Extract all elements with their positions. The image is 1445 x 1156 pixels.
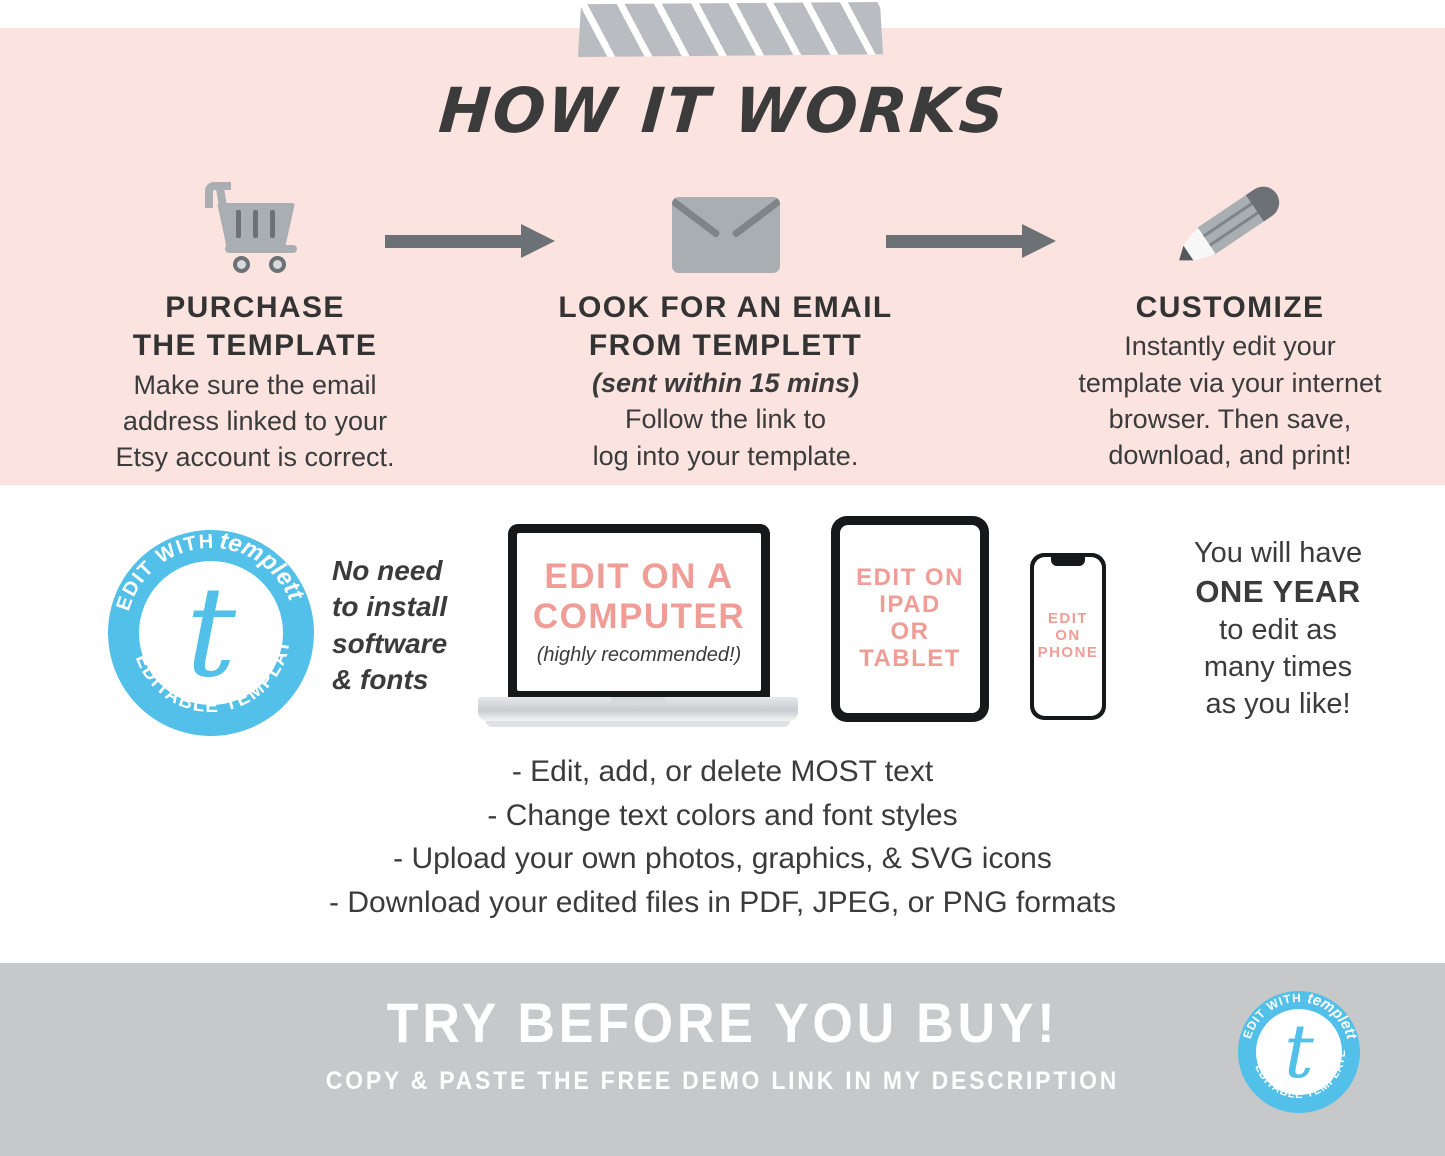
arrow-shaft	[886, 235, 1026, 248]
arrow-shaft	[385, 235, 525, 248]
footer-badge-center: t	[1256, 1009, 1342, 1095]
footer-subtitle: COPY & PASTE THE FREE DEMO LINK IN MY DE…	[58, 1067, 1387, 1096]
step-1-body-line-2: address linked to your	[90, 403, 420, 439]
step-2-body-line-2: log into your template.	[508, 438, 943, 474]
step-2-icon-slot	[508, 168, 943, 273]
page-title: HOW IT WORKS	[0, 74, 1445, 147]
step-1-body-line-3: Etsy account is correct.	[90, 439, 420, 475]
phone-screen-line-1: EDIT	[1038, 611, 1099, 628]
laptop-screen: EDIT ON A COMPUTER (highly recommended!)	[517, 533, 761, 691]
one-year-line-1: You will have	[1128, 535, 1428, 572]
phone-body: EDIT ON PHONE	[1030, 553, 1106, 720]
one-year-line-3: to edit as	[1128, 612, 1428, 649]
one-year-line-4: many times	[1128, 649, 1428, 686]
tablet-screen-line-4: TABLET	[856, 646, 964, 673]
laptop-mockup: EDIT ON A COMPUTER (highly recommended!)	[478, 524, 798, 730]
tablet-screen-line-2: IPAD	[856, 592, 964, 619]
step-3-body-line-3: browser. Then save,	[1040, 401, 1420, 437]
tablet-mockup: EDIT ON IPAD OR TABLET	[831, 516, 989, 722]
templett-badge-footer: EDIT WITH templett EDITABLE TEMPLATE t	[1238, 991, 1360, 1113]
pencil-body-group	[1176, 182, 1283, 269]
step-1-title: PURCHASE THE TEMPLATE	[90, 289, 420, 366]
envelope-flap	[672, 197, 780, 247]
laptop-lid: EDIT ON A COMPUTER (highly recommended!)	[508, 524, 770, 700]
footer-title: TRY BEFORE YOU BUY!	[51, 990, 1395, 1055]
washi-tape-decoration	[578, 2, 883, 57]
laptop-trackpad-notch	[611, 697, 665, 704]
phone-screen-heading: EDIT ON PHONE	[1038, 611, 1099, 661]
tablet-screen-heading: EDIT ON IPAD OR TABLET	[856, 565, 964, 673]
tablet-screen: EDIT ON IPAD OR TABLET	[840, 525, 980, 713]
step-1-body: Make sure the email address linked to yo…	[90, 367, 420, 476]
tablet-screen-line-1: EDIT ON	[856, 565, 964, 592]
footer-badge-letter-t: t	[1284, 1021, 1314, 1084]
laptop-base	[478, 697, 798, 721]
features-list: - Edit, add, or delete MOST text - Chang…	[0, 750, 1445, 924]
feature-item: - Change text colors and font styles	[0, 794, 1445, 838]
step-3-title: CUSTOMIZE	[1040, 289, 1420, 327]
step-1-title-line-2: THE TEMPLATE	[90, 327, 420, 365]
cart-bar	[270, 210, 275, 238]
laptop-screen-heading: EDIT ON A COMPUTER	[533, 557, 745, 635]
laptop-foot	[486, 721, 790, 727]
no-install-text: No need to install software & fonts	[332, 553, 472, 699]
no-install-line-1: No need	[332, 553, 472, 589]
step-2-title: LOOK FOR AN EMAIL FROM TEMPLETT	[508, 289, 943, 366]
arrow-right-icon	[886, 224, 1056, 258]
phone-mockup: EDIT ON PHONE	[1030, 553, 1106, 720]
feature-item: - Download your edited files in PDF, JPE…	[0, 881, 1445, 925]
badge-center: t	[139, 561, 283, 705]
badge-letter-t: t	[186, 580, 236, 686]
step-1-title-line-1: PURCHASE	[90, 289, 420, 327]
step-1-icon-slot	[90, 168, 420, 273]
step-3-body-line-4: download, and print!	[1040, 437, 1420, 473]
step-2-body-line-1: Follow the link to	[508, 401, 943, 437]
step-3-title-line-1: CUSTOMIZE	[1040, 289, 1420, 327]
step-3-body: Instantly edit your template via your in…	[1040, 328, 1420, 473]
cart-bar	[236, 210, 241, 238]
tablet-body: EDIT ON IPAD OR TABLET	[831, 516, 989, 722]
arrow-head	[1022, 224, 1056, 258]
step-3-body-line-2: template via your internet	[1040, 365, 1420, 401]
laptop-screen-line-2: COMPUTER	[533, 597, 745, 636]
no-install-line-3: software	[332, 626, 472, 662]
cart-bottom-rail	[225, 245, 297, 253]
phone-screen-line-3: PHONE	[1038, 645, 1099, 662]
no-install-line-4: & fonts	[332, 662, 472, 698]
laptop-screen-note: (highly recommended!)	[537, 644, 742, 667]
one-year-text: You will have ONE YEAR to edit as many t…	[1128, 535, 1428, 724]
step-2-italic-note: (sent within 15 mins)	[508, 366, 943, 401]
how-it-works-infographic: HOW IT WORKS	[0, 0, 1445, 1156]
cart-wheel	[269, 256, 286, 273]
tablet-screen-line-3: OR	[856, 619, 964, 646]
phone-screen: EDIT ON PHONE	[1034, 557, 1102, 716]
phone-screen-line-2: ON	[1038, 628, 1099, 645]
feature-item: - Upload your own photos, graphics, & SV…	[0, 837, 1445, 881]
shopping-cart-icon	[199, 177, 311, 273]
one-year-highlight: ONE YEAR	[1195, 574, 1360, 609]
footer-section: TRY BEFORE YOU BUY! COPY & PASTE THE FRE…	[0, 963, 1445, 1156]
step-look-for-email: LOOK FOR AN EMAIL FROM TEMPLETT (sent wi…	[508, 168, 943, 474]
step-customize: CUSTOMIZE Instantly edit your template v…	[1040, 168, 1420, 473]
pencil-icon	[1170, 181, 1290, 273]
step-3-icon-slot	[1040, 168, 1420, 273]
step-2-title-line-1: LOOK FOR AN EMAIL	[508, 289, 943, 327]
feature-item: - Edit, add, or delete MOST text	[0, 750, 1445, 794]
envelope-icon	[672, 197, 780, 273]
arrow-right-icon	[385, 224, 555, 258]
step-2-body: Follow the link to log into your templat…	[508, 401, 943, 473]
arrow-head	[521, 224, 555, 258]
templett-badge: EDIT WITH templett EDITABLE TEMPLATE t	[108, 530, 314, 736]
laptop-screen-line-1: EDIT ON A	[533, 557, 745, 596]
step-purchase: PURCHASE THE TEMPLATE Make sure the emai…	[90, 168, 420, 475]
hero-section: HOW IT WORKS	[0, 28, 1445, 485]
step-3-body-line-1: Instantly edit your	[1040, 328, 1420, 364]
step-1-body-line-1: Make sure the email	[90, 367, 420, 403]
cart-bar	[253, 210, 258, 238]
phone-notch	[1051, 557, 1085, 566]
one-year-line-5: as you like!	[1128, 686, 1428, 723]
step-2-title-line-2: FROM TEMPLETT	[508, 327, 943, 365]
no-install-line-2: to install	[332, 589, 472, 625]
cart-wheel	[233, 256, 250, 273]
